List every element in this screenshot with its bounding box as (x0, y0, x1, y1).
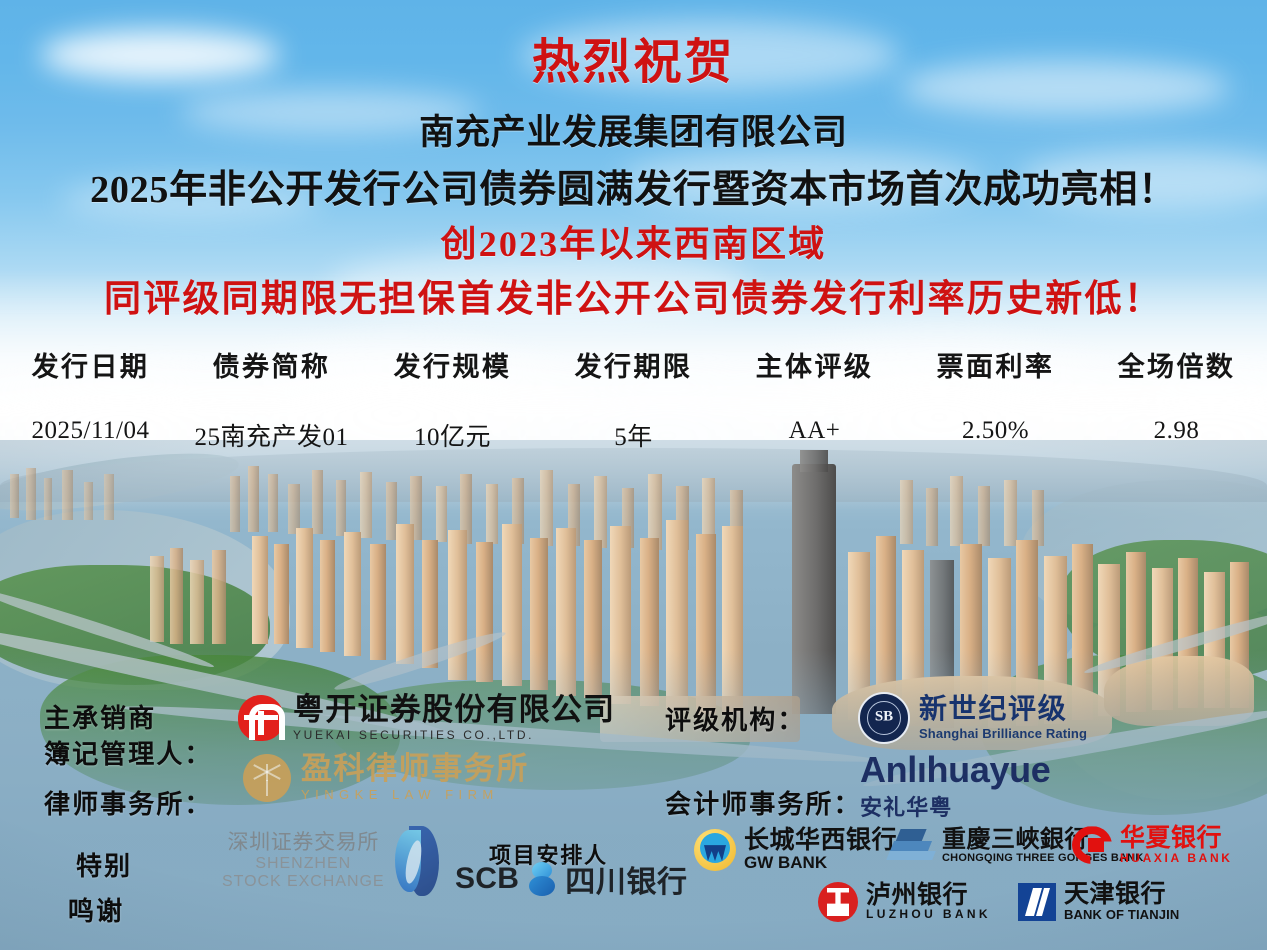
headline-record-region: 创2023年以来西南区域 (0, 215, 1267, 267)
logo-sichuan-bank: SCB 四川银行 (455, 857, 688, 901)
th-subscription-multiple: 全场倍数 (1086, 345, 1267, 388)
td-subscription-multiple: 2.98 (1086, 417, 1267, 453)
td-issue-date: 2025/11/04 (0, 417, 181, 453)
bank-of-tianjin-icon (1018, 883, 1056, 921)
logo-anlihuayue: Anlıhuayue 安礼华粤 (860, 752, 1050, 822)
huaxia-bank-name-cn: 华夏银行 (1120, 826, 1233, 852)
sichuan-bank-abbr: SCB (455, 862, 519, 896)
huaxia-bank-icon (1072, 826, 1112, 864)
bond-summary-table: 发行日期 债券简称 发行规模 发行期限 主体评级 票面利率 全场倍数 2025/… (0, 345, 1267, 453)
yingke-name-en: YINGKE LAW FIRM (301, 787, 529, 802)
th-issue-size: 发行规模 (362, 345, 543, 388)
th-bond-name: 债券简称 (181, 345, 362, 388)
yuekai-name-en: YUEKAI SECURITIES CO.,LTD. (293, 728, 615, 742)
yingke-cube-icon (243, 754, 291, 802)
huaxia-bank-name-en: HUAXIA BANK (1120, 852, 1233, 865)
td-bond-name: 25南充产发01 (181, 417, 362, 453)
brilliance-name-en: Shanghai Brilliance Rating (919, 726, 1087, 741)
headline-congratulations: 热烈祝贺 (0, 38, 1267, 88)
szse-name-cn: 深圳证券交易所 (222, 831, 385, 855)
gw-bank-name-cn: 长城华西银行 (744, 828, 897, 854)
th-tenor: 发行期限 (543, 345, 724, 388)
brilliance-seal-icon: SB (858, 692, 910, 744)
logo-gw-bank: 长城华西银行 GW BANK (694, 828, 897, 872)
logo-bank-of-tianjin: 天津银行 BANK OF TIANJIN (1018, 882, 1179, 922)
logo-luzhou-bank: 泸州银行 LUZHOU BANK (818, 882, 991, 922)
szse-name-en-line2: STOCK EXCHANGE (222, 873, 385, 891)
yuekai-name-cn: 粤开证券股份有限公司 (293, 694, 615, 725)
szse-leaf-icon (391, 826, 443, 896)
gw-bank-icon (694, 829, 736, 871)
yingke-name-cn: 盈科律师事务所 (301, 753, 529, 784)
celebration-poster: 热烈祝贺 南充产业发展集团有限公司 2025年非公开发行公司债券圆满发行暨资本市… (0, 0, 1267, 950)
logo-shenzhen-stock-exchange: 深圳证券交易所 SHENZHEN STOCK EXCHANGE (222, 826, 443, 896)
yuekai-logo-icon (238, 695, 284, 741)
brilliance-monogram: SB (875, 709, 893, 726)
th-issuer-rating: 主体评级 (724, 345, 905, 388)
td-tenor: 5年 (543, 417, 724, 453)
logo-yingke-law-firm: 盈科律师事务所 YINGKE LAW FIRM (243, 753, 529, 802)
gw-bank-name-en: GW BANK (744, 854, 897, 873)
table-header-row: 发行日期 债券简称 发行规模 发行期限 主体评级 票面利率 全场倍数 (0, 345, 1267, 388)
szse-name-en-line1: SHENZHEN (222, 855, 385, 873)
th-coupon-rate: 票面利率 (905, 345, 1086, 388)
label-special-thanks-line1: 特别 (76, 846, 132, 883)
label-special-thanks-line2: 鸣谢 (68, 891, 124, 928)
anlihuayue-name-en: Anlıhuayue (860, 752, 1050, 788)
headline-issue-statement: 2025年非公开发行公司债券圆满发行暨资本市场首次成功亮相！ (0, 158, 1267, 213)
td-issuer-rating: AA+ (724, 417, 905, 453)
three-gorges-bank-icon (888, 829, 934, 863)
label-law-firm: 律师事务所： (44, 784, 212, 821)
label-bookrunner: 簿记管理人： (44, 734, 212, 771)
label-rating-agency: 评级机构： (665, 700, 805, 737)
td-issue-size: 10亿元 (362, 417, 543, 453)
sichuan-bank-name-cn: 四川银行 (565, 857, 687, 901)
sichuan-bank-icon (527, 862, 557, 896)
th-issue-date: 发行日期 (0, 345, 181, 388)
luzhou-bank-name-cn: 泸州银行 (866, 883, 991, 909)
partners-block: 主承销商 簿记管理人： 律师事务所： 评级机构： 会计师事务所： 特别 鸣谢 项… (0, 686, 1267, 950)
brilliance-name-cn: 新世纪评级 (919, 695, 1087, 723)
bank-of-tianjin-name-en: BANK OF TIANJIN (1064, 908, 1179, 922)
label-lead-underwriter: 主承销商 (44, 698, 156, 735)
logo-shanghai-brilliance-rating: SB 新世纪评级 Shanghai Brilliance Rating (858, 692, 1087, 744)
table-value-row: 2025/11/04 25南充产发01 10亿元 5年 AA+ 2.50% 2.… (0, 417, 1267, 453)
headline-record-rate: 同评级同期限无担保首发非公开公司债券发行利率历史新低！ (0, 268, 1267, 322)
bank-of-tianjin-name-cn: 天津银行 (1064, 882, 1179, 908)
label-accounting-firm: 会计师事务所： (665, 784, 862, 821)
logo-huaxia-bank: 华夏银行 HUAXIA BANK (1072, 826, 1233, 865)
headline-issuer-name: 南充产业发展集团有限公司 (0, 104, 1267, 155)
anlihuayue-name-cn: 安礼华粤 (860, 790, 1050, 822)
luzhou-bank-name-en: LUZHOU BANK (866, 908, 991, 921)
luzhou-bank-icon (818, 882, 858, 922)
logo-yuekai-securities: 粤开证券股份有限公司 YUEKAI SECURITIES CO.,LTD. (238, 694, 615, 742)
td-coupon-rate: 2.50% (905, 417, 1086, 453)
